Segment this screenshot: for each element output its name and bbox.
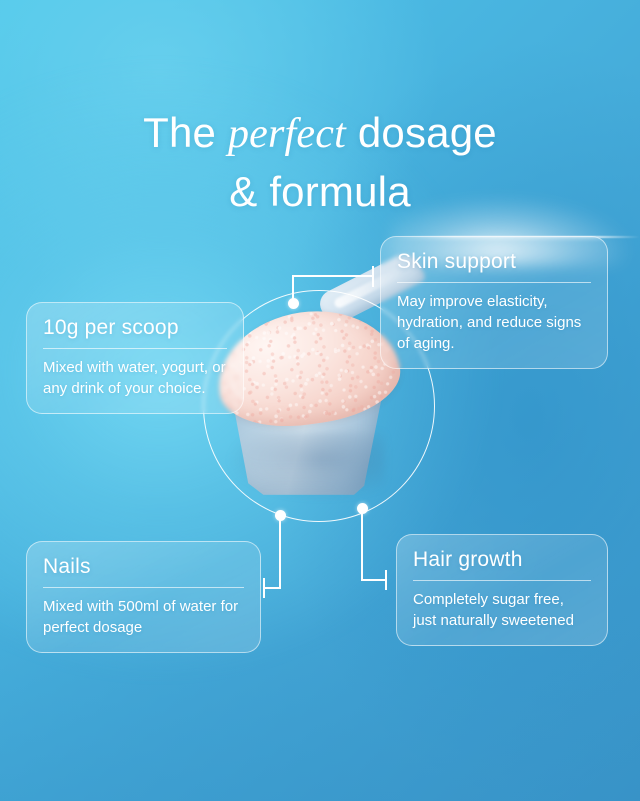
title-line1-before: The xyxy=(143,109,228,156)
info-card-skin[interactable]: Skin support May improve elasticity, hyd… xyxy=(380,236,608,369)
info-card-nails[interactable]: Nails Mixed with 500ml of water for perf… xyxy=(26,541,261,653)
info-card-scoop-title: 10g per scoop xyxy=(43,315,227,341)
connector-dot-skin xyxy=(288,298,299,309)
infographic-poster: The perfect dosage & formula 10g per sco… xyxy=(0,0,640,801)
info-card-hair-body: Completely sugar free, just naturally sw… xyxy=(413,589,591,631)
info-card-nails-body: Mixed with 500ml of water for perfect do… xyxy=(43,596,244,638)
info-card-hair-title: Hair growth xyxy=(413,547,591,573)
info-card-nails-title: Nails xyxy=(43,554,244,580)
page-title: The perfect dosage & formula xyxy=(0,104,640,221)
info-card-hair-divider xyxy=(413,580,591,581)
title-line2: & formula xyxy=(0,163,640,221)
title-line1-after: dosage xyxy=(346,109,497,156)
connector-dot-hair xyxy=(357,503,368,514)
connector-dot-nails xyxy=(275,510,286,521)
info-card-skin-divider xyxy=(397,282,591,283)
title-emphasis: perfect xyxy=(228,111,346,157)
info-card-scoop-divider xyxy=(43,348,227,349)
info-card-scoop-body: Mixed with water, yogurt, or any drink o… xyxy=(43,357,227,399)
info-card-scoop[interactable]: 10g per scoop Mixed with water, yogurt, … xyxy=(26,302,244,414)
info-card-hair[interactable]: Hair growth Completely sugar free, just … xyxy=(396,534,608,646)
info-card-nails-divider xyxy=(43,587,244,588)
info-card-skin-title: Skin support xyxy=(397,249,591,275)
info-card-skin-body: May improve elasticity, hydration, and r… xyxy=(397,291,591,354)
